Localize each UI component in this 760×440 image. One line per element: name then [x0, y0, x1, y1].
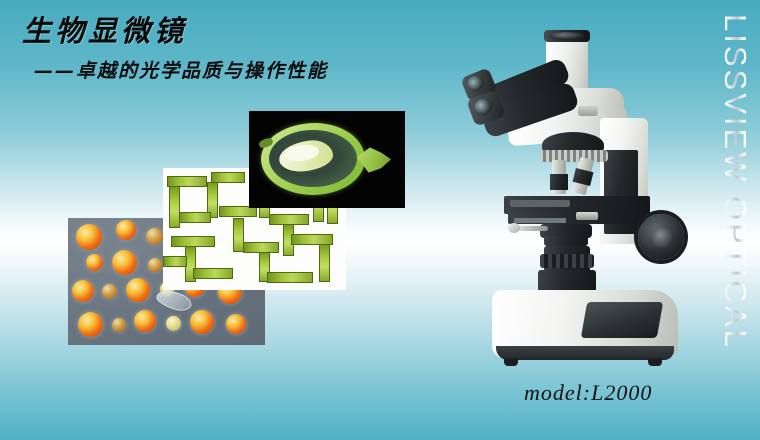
illuminator-knurl [540, 254, 594, 268]
head-badge [578, 106, 598, 116]
stage-control [576, 212, 598, 220]
base-foot-left [504, 358, 518, 366]
condenser-knob [508, 223, 520, 233]
turret-knurl [540, 150, 608, 162]
brand-watermark: LISSVIEW OPTICAL [712, 14, 758, 414]
cell-blob [86, 254, 103, 271]
cell-blob [102, 284, 117, 299]
cell-blob [126, 278, 150, 302]
headline-block: 生物显微镜 ——卓越的光学品质与操作性能 [0, 0, 470, 100]
stage-clip [514, 218, 566, 223]
cell-blob [134, 310, 156, 332]
cell-blob [72, 280, 94, 302]
algae-filament [179, 212, 211, 223]
cell-blob [190, 310, 214, 334]
algae-filament [319, 244, 330, 282]
page-title: 生物显微镜 [22, 8, 187, 50]
fine-focus-knob [652, 228, 672, 248]
microscope-illustration [448, 14, 703, 380]
page-subtitle: ——卓越的光学品质与操作性能 [34, 56, 328, 83]
cell-blob [146, 228, 163, 245]
stage-slot [510, 200, 570, 207]
cell-blob [116, 220, 136, 240]
cell-blob [78, 312, 103, 337]
brand-name-vertical: LISSVIEW OPTICAL [717, 14, 753, 350]
trinocular-aperture [549, 32, 585, 40]
product-poster: 生物显微镜 ——卓越的光学品质与操作性能 LISSVIEW OPTICAL mo… [0, 0, 760, 440]
cell-blob [166, 316, 181, 331]
objective-band-1 [550, 174, 568, 190]
cell-blob [226, 314, 246, 334]
cell-blob [148, 258, 162, 272]
algae-filament [163, 256, 187, 267]
cell-blob [112, 318, 126, 332]
cell-blob [112, 250, 137, 275]
algae-filament [267, 272, 313, 283]
lamp-housing [538, 270, 596, 292]
base-foot-right [648, 358, 662, 366]
iris-diaphragm [544, 236, 588, 246]
specimen-photo-plant-ovule-section [249, 111, 405, 208]
cell-blob [76, 224, 102, 250]
base-panel [581, 302, 663, 338]
model-label: model:L2000 [524, 380, 652, 406]
algae-filament [193, 268, 233, 279]
condenser-lever [516, 226, 548, 231]
